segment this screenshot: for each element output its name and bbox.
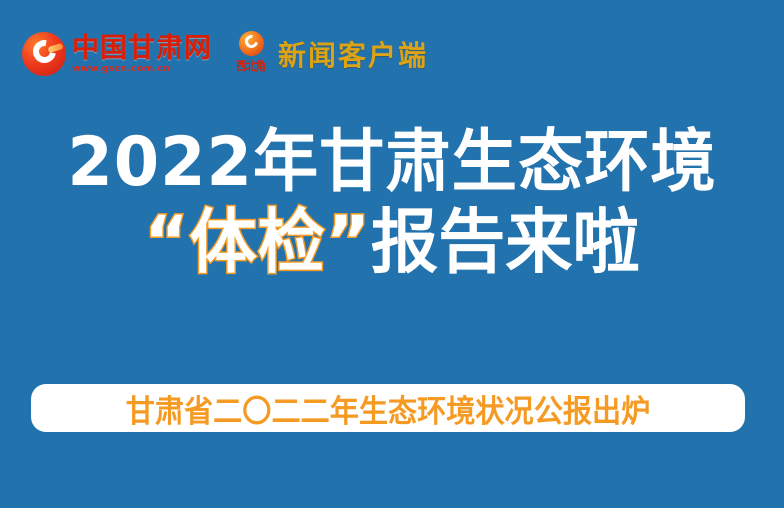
logo-gscn[interactable]: 中国甘肃网 www.gscn.com.cn <box>22 32 212 76</box>
poster-canvas: 中国甘肃网 www.gscn.com.cn 西北角 新闻客户端 2022年甘肃生… <box>0 0 784 508</box>
title-line-2-rest: 报告来啦 <box>371 201 640 283</box>
subtitle-text: 甘肃省二〇二二年生态环境状况公报出炉 <box>126 386 651 431</box>
gscn-flame-swirl-icon <box>22 32 66 76</box>
gscn-wordmark-wrap: 中国甘肃网 www.gscn.com.cn <box>72 35 212 74</box>
title-quote-open: “ <box>144 201 189 283</box>
xibeijiao-label: 西北角 <box>236 57 265 74</box>
page-title-line-1: 2022年甘肃生态环境 <box>16 128 769 197</box>
title-emphasis-text: 体检 <box>189 201 325 283</box>
news-client-wordmark: 新闻客户端 <box>278 34 428 74</box>
gscn-url-text: www.gscn.com.cn <box>72 65 212 74</box>
xibeijiao-emblem: 西北角 <box>230 31 272 77</box>
xibeijiao-swirl-icon <box>239 31 264 56</box>
page-title-line-2: “体检”报告来啦 <box>16 207 769 278</box>
header-logo-bar: 中国甘肃网 www.gscn.com.cn 西北角 新闻客户端 <box>22 28 428 80</box>
subtitle-banner: 甘肃省二〇二二年生态环境状况公报出炉 <box>31 384 745 432</box>
title-quote-close: ” <box>326 201 371 283</box>
gscn-wordmark: 中国甘肃网 <box>72 35 212 62</box>
headline-block: 2022年甘肃生态环境 “体检”报告来啦 <box>0 128 784 279</box>
logo-news-client[interactable]: 西北角 新闻客户端 <box>230 31 428 77</box>
